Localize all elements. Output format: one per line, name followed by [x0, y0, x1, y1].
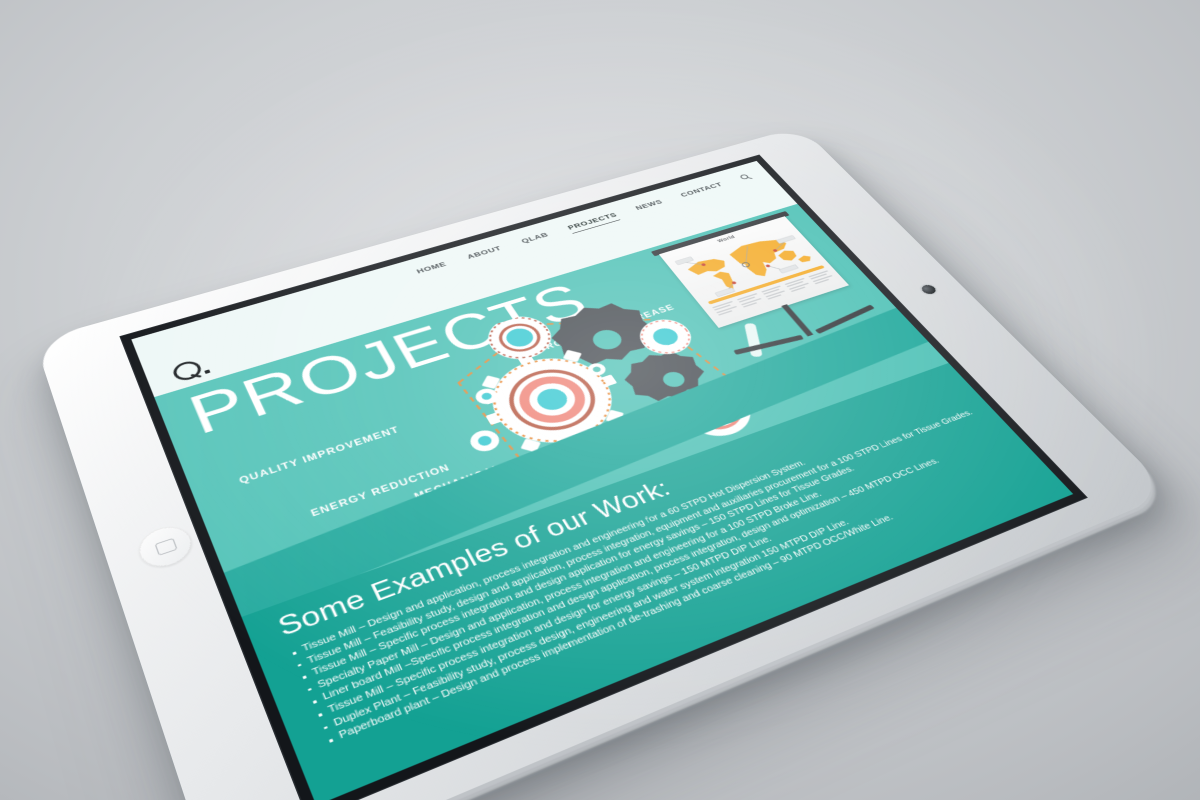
hero-tag-quality-improvement: QUALITY IMPROVEMENT	[238, 426, 401, 486]
search-icon[interactable]	[738, 173, 754, 182]
content-section: Some Examples of our Work: Tissue Mill –…	[241, 363, 1073, 800]
tablet-device: HOME ABOUT QLAB PROJECTS NEWS CONTACT	[37, 128, 1169, 800]
chart-column	[761, 285, 789, 301]
nav-item-home[interactable]: HOME	[415, 261, 448, 276]
website: HOME ABOUT QLAB PROJECTS NEWS CONTACT	[131, 161, 1073, 800]
nav-item-projects[interactable]: PROJECTS	[566, 212, 618, 232]
brand-logo[interactable]	[170, 356, 210, 382]
chart-column	[737, 293, 765, 309]
list-item: Tissue Mill – Specific process integrati…	[313, 443, 1009, 722]
list-item: Tissue Mill – Design and application, pr…	[288, 399, 968, 660]
list-item: Paperboard plant – Design and process im…	[324, 461, 1026, 748]
chart-column	[712, 301, 740, 317]
front-camera	[919, 284, 938, 296]
examples-list: Tissue Mill – Design and application, pr…	[288, 399, 1026, 748]
logo-q-icon	[170, 358, 203, 382]
list-item: Specialty Paper Mill – Design and applic…	[303, 425, 992, 697]
nav-item-about[interactable]: ABOUT	[466, 245, 503, 261]
home-button-square-icon	[154, 538, 177, 556]
tablet-screen: HOME ABOUT QLAB PROJECTS NEWS CONTACT	[131, 161, 1073, 800]
home-button[interactable]	[134, 521, 198, 574]
nav-item-qlab[interactable]: QLAB	[520, 231, 550, 244]
chart-column	[808, 270, 835, 285]
scene: HOME ABOUT QLAB PROJECTS NEWS CONTACT	[0, 0, 1200, 800]
chart-column	[785, 278, 813, 294]
list-item: Liner board Mill –Specific process integ…	[308, 434, 1000, 710]
nav-item-news[interactable]: NEWS	[634, 198, 664, 211]
list-item: Tissue Mill – Feasibility study, design …	[293, 408, 976, 672]
perspective-stage: HOME ABOUT QLAB PROJECTS NEWS CONTACT	[0, 0, 1200, 800]
hero-tag-energy-reduction: ENERGY REDUCTION	[310, 463, 452, 519]
list-item: Tissue Mill – Specific process integrati…	[298, 416, 984, 684]
hero-tag-mechanical-rebuilding: MECHANICAL REBUILDING	[413, 436, 585, 502]
board-leg	[781, 304, 813, 336]
list-item: Duplex Plant – Feasibility study, proces…	[319, 452, 1018, 735]
nav-item-contact[interactable]: CONTACT	[679, 181, 724, 198]
logo-dot-icon	[204, 369, 210, 374]
